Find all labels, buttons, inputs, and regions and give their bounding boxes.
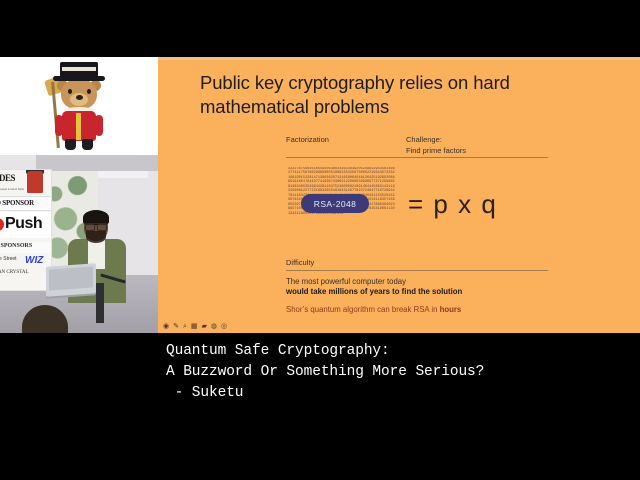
caption-bar: Quantum Safe Cryptography: A Buzzword Or… (0, 333, 640, 480)
bear-leg-left (65, 139, 76, 150)
slide-title: Public key cryptography relies on hard m… (200, 71, 580, 118)
spotlight-icon[interactable]: ◍ (211, 323, 217, 330)
beefeater-bear-mascot-icon (42, 60, 116, 152)
crystal-sponsor-label: RGAN CRYSTAL (0, 270, 29, 275)
push-sponsor-label: Push (5, 215, 42, 233)
presentation-slide: Public key cryptography relies on hard m… (158, 57, 640, 333)
highlighter-icon[interactable]: ▰ (202, 323, 207, 330)
bear-arm-right (95, 115, 103, 136)
zoom-icon[interactable]: ⌕ (183, 323, 187, 330)
lectern-stand (96, 283, 104, 323)
pen-icon[interactable]: ✎ (173, 323, 179, 330)
difficulty-line-3: Shor’s quantum algorithm can break RSA i… (286, 305, 461, 314)
difficulty-line-2: would take millions of years to find the… (286, 287, 462, 296)
shor-text: Shor’s quantum algorithm can break RSA i… (286, 305, 440, 314)
speaker-glasses-icon (85, 223, 107, 229)
bear-hat-brim (53, 76, 105, 81)
laptop-screen (49, 266, 93, 290)
factorization-label: Factorization (286, 135, 329, 146)
banner-band-sponsor-row: ND SPONSOR (0, 196, 51, 211)
speaker-beard (86, 231, 106, 243)
bear-uniform-trim (76, 113, 81, 140)
caption-line-1: Quantum Safe Cryptography: (166, 341, 640, 362)
bear-arm-left (55, 115, 63, 136)
projection-screen-top (36, 155, 158, 171)
presenter-laptop (46, 263, 96, 296)
difficulty-line-1: The most powerful computer today (286, 277, 406, 286)
banner-figure-icon (27, 171, 43, 193)
banner-secondary-sponsors-row: AL SPONSORS (0, 242, 51, 253)
settings-icon[interactable]: ◎ (221, 323, 227, 330)
challenge-label: Challenge: Find prime factors (406, 135, 466, 157)
push-logo-icon (0, 218, 4, 231)
letterbox-top-bar (0, 0, 640, 57)
grid-icon[interactable]: ▦ (191, 323, 198, 330)
pointer-icon[interactable]: ◉ (163, 323, 169, 330)
divider-top (286, 157, 548, 158)
rsa-2048-badge: RSA-2048 (301, 194, 369, 213)
sponsor-banner: NDES The Annual London Meet ND SPONSOR P… (0, 169, 52, 291)
factorization-equation: = p x q (408, 189, 497, 220)
bear-leg-right (82, 139, 93, 150)
video-player-stage: NDES The Annual London Meet ND SPONSOR P… (0, 0, 640, 480)
banner-event-logo: NDES (0, 173, 15, 183)
banner-band-sponsor-label: ND SPONSOR (0, 199, 34, 207)
secondary-sponsors-label: AL SPONSORS (0, 243, 32, 249)
slide-annotation-toolbar[interactable]: ◉ ✎ ⌕ ▦ ▰ ◍ ◎ (160, 322, 230, 331)
divider-bottom (286, 270, 548, 271)
difficulty-label: Difficulty (286, 258, 314, 267)
wiz-sponsor-label: WIZ (25, 255, 43, 266)
bear-eye-left (68, 89, 72, 94)
jane-street-sponsor-label: Jane Street (0, 256, 17, 262)
bear-hat-band (62, 67, 96, 71)
slide-top-edge (158, 57, 640, 60)
shor-hours-emphasis: hours (440, 305, 462, 314)
bear-nose (76, 95, 83, 100)
banner-event-tagline: The Annual London Meet (0, 187, 24, 191)
caption-line-3: - Suketu (166, 383, 640, 404)
mascot-panel (0, 57, 158, 155)
caption-line-2: A Buzzword Or Something More Serious? (166, 362, 640, 383)
banner-push-sponsor: Push (0, 212, 51, 238)
bear-eye-right (87, 89, 91, 94)
